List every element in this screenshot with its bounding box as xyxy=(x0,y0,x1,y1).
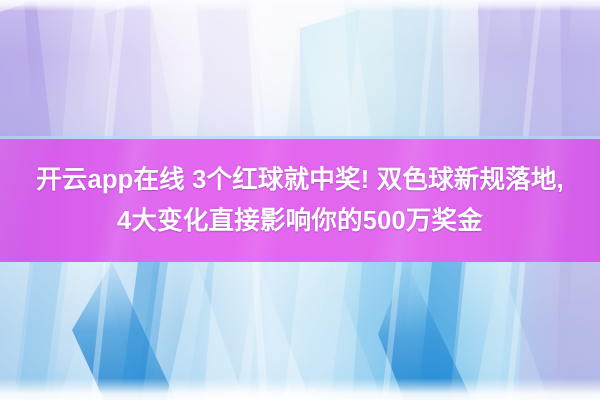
headline-band: 开云app在线 3个红球就中奖! 双色球新规落地, 4大变化直接影响你的500万… xyxy=(0,139,600,262)
headline-line-2: 4大变化直接影响你的500万奖金 xyxy=(117,201,483,242)
banner-image: 开云app在线 3个红球就中奖! 双色球新规落地, 4大变化直接影响你的500万… xyxy=(0,0,600,400)
site-watermark-icon xyxy=(279,383,321,396)
top-edge-fade xyxy=(0,0,600,11)
headline-line-1: 开云app在线 3个红球就中奖! 双色球新规落地, xyxy=(36,160,564,201)
band-top-divider xyxy=(0,136,600,139)
